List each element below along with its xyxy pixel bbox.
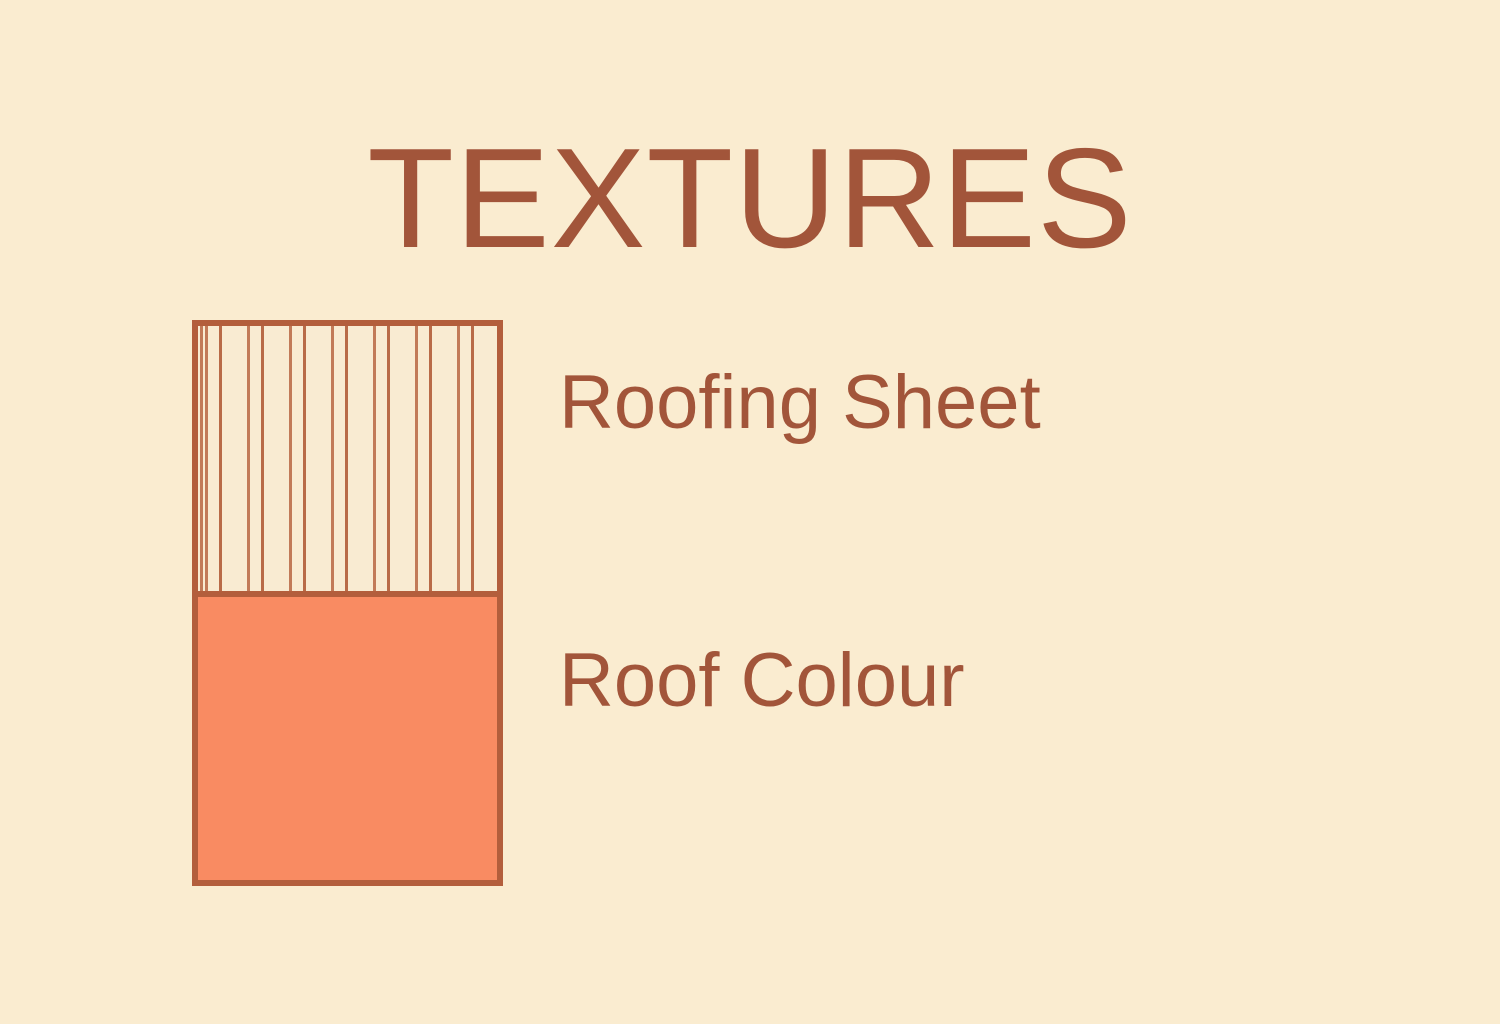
label-roof-colour: Roof Colour (559, 643, 965, 719)
swatch-roof-colour[interactable] (198, 597, 497, 880)
rib-line-pattern (198, 326, 497, 591)
texture-swatch-stack (192, 320, 503, 886)
textures-board: TEXTURES Roofing Sheet Roof Colour (0, 0, 1500, 1024)
label-roofing-sheet: Roofing Sheet (559, 365, 1041, 441)
page-title: TEXTURES (0, 128, 1500, 270)
swatch-roofing-sheet[interactable] (198, 326, 497, 597)
